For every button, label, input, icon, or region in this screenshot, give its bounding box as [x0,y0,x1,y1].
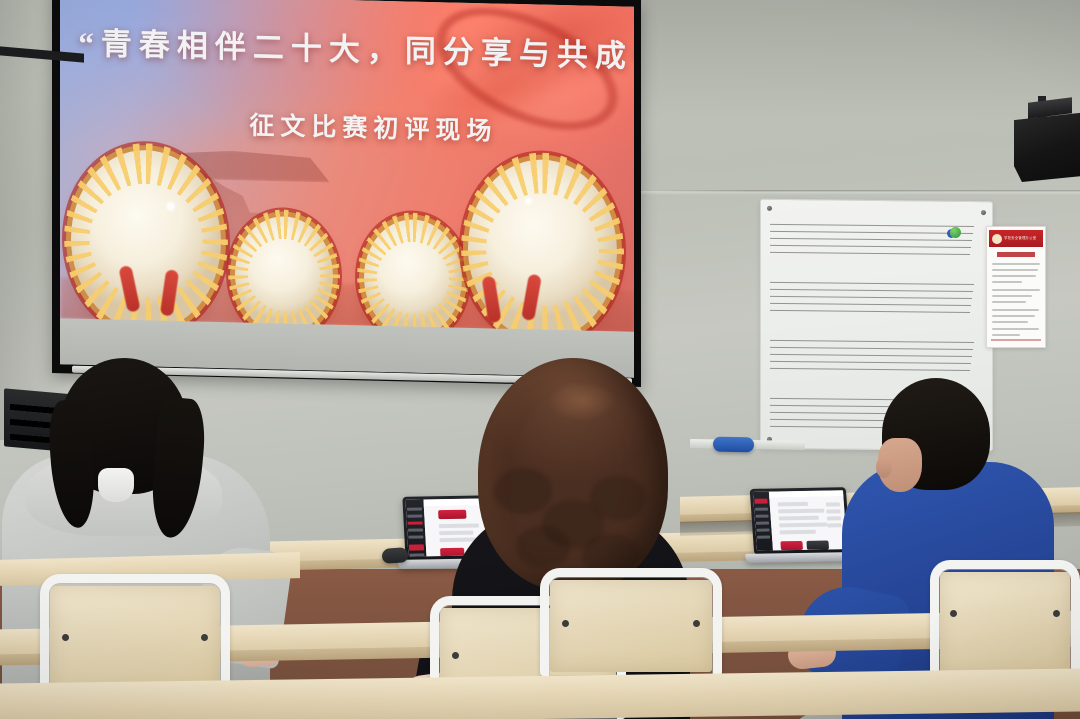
chair-bolt [62,634,69,641]
staff-group [770,282,974,284]
board-magnet[interactable] [950,227,961,238]
whiteboard-eraser[interactable] [713,437,754,453]
person-center-hair-highlight [534,372,630,430]
classroom-photo: “青春相伴二十大，同分享与共成长” 征文比赛初评现场 [0,0,1080,719]
poster-logo-icon [992,234,1002,244]
slide-subtitle: 征文比赛初评现场 [249,105,497,147]
laptop-right[interactable] [750,487,851,555]
chair-bolt [562,620,569,627]
projection-screen-surface: “青春相伴二十大，同分享与共成长” 征文比赛初评现场 [60,0,634,378]
person-right-ear [876,456,892,478]
projected-slide: “青春相伴二十大，同分享与共成长” 征文比赛初评现场 [60,0,634,333]
poster-header: 学校安全管理办公室 [989,230,1043,247]
board-screw [981,210,986,215]
chair-left[interactable] [40,574,230,698]
laptop-right-primary-button[interactable] [781,541,804,550]
wall-poster: 学校安全管理办公室 [986,226,1046,348]
drum-small-left [235,216,333,334]
wall-shading-top [640,0,1080,120]
person-left-face-mask [98,468,134,502]
laptop-right-content [770,497,848,551]
poster-header-text: 学校安全管理办公室 [1004,237,1036,241]
laptop-right-screen[interactable] [753,490,847,550]
staff-group [770,340,974,342]
chair-right[interactable] [930,560,1080,680]
chair-bolt [950,610,957,617]
chair-bolt [693,620,700,627]
sparkle [525,197,532,204]
sparkle [166,201,175,210]
projection-screen: “青春相伴二十大，同分享与共成长” 征文比赛初评现场 [52,0,641,387]
drum-studs [357,212,469,334]
poster-title-bar [991,252,1041,257]
drum-group [60,170,634,334]
staff-group [770,224,974,226]
laptop-right-secondary-button[interactable] [807,541,830,550]
laptop-right-lid [750,487,851,555]
chair-bolt [1053,610,1060,617]
chair-bolt [452,652,459,659]
drum-large-left [71,149,220,333]
wall-seam-highlight [640,191,1080,195]
chair-frame [930,560,1080,680]
chair-center-back[interactable] [540,568,722,676]
drum-small-right [364,219,462,333]
person-center-hair [478,358,668,590]
board-screw [767,206,772,211]
chair-bolt [201,634,208,641]
drum-studs [228,209,340,334]
wall-speaker [1014,110,1080,182]
poster-footer [991,339,1041,341]
mouse[interactable] [382,547,409,564]
